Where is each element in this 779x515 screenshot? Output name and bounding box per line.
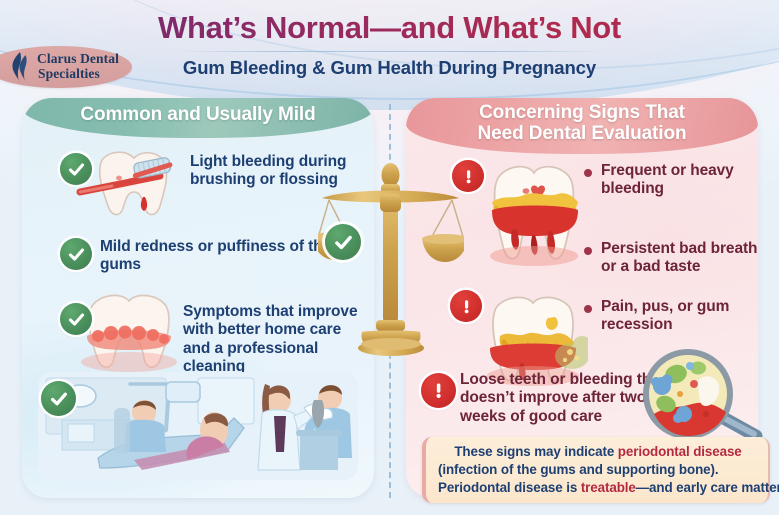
list-item: Mild redness or puffiness of the gums — [60, 238, 360, 275]
list-item-label: Pain, pus, or gum recession — [601, 298, 741, 335]
right-panel-heading: Concerning Signs That Need Dental Evalua… — [406, 98, 758, 154]
callout-line-3: Periodontal disease is treatable—and ear… — [438, 479, 758, 497]
check-badge-icon — [60, 153, 92, 185]
bullet-dot-icon — [584, 305, 592, 313]
callout-line-1a: These signs may indicate — [454, 444, 617, 459]
periodontal-disease-callout: These signs may indicate periodontal dis… — [422, 437, 770, 503]
page-title: What’s Normal—and What’s Not — [0, 10, 779, 46]
balance-scale-icon — [318, 150, 464, 380]
callout-highlight-treatable: treatable — [581, 480, 636, 495]
list-item: Pain, pus, or gum recession — [584, 298, 754, 335]
magnifier-bacteria-illustration — [636, 348, 768, 446]
infographic-canvas: Clarus Dental Specialties What’s Normal—… — [0, 0, 779, 515]
dental-clinic-scene-illustration — [38, 372, 358, 480]
callout-line-3a: Periodontal disease is — [438, 480, 581, 495]
list-item-label: Mild redness or puffiness of the gums — [100, 238, 350, 275]
list-item-label: Persistent bad breath or a bad taste — [601, 240, 758, 277]
list-item: Light bleeding during brushing or flossi… — [60, 153, 360, 190]
bullet-dot-icon — [584, 247, 592, 255]
list-item: Frequent or heavy bleeding — [584, 162, 754, 199]
callout-line-2: (infection of the gums and supporting bo… — [438, 461, 758, 479]
callout-highlight-periodontal: periodontal disease — [618, 444, 742, 459]
list-item: Persistent bad breath or a bad taste — [584, 240, 758, 277]
check-badge-icon — [325, 224, 361, 260]
list-item-label: Frequent or heavy bleeding — [601, 162, 741, 199]
brand-logo[interactable]: Clarus Dental Specialties — [0, 46, 132, 88]
bullet-dot-icon — [584, 169, 592, 177]
check-badge-icon — [60, 303, 92, 335]
brand-logo-text: Clarus Dental Specialties — [37, 52, 119, 81]
callout-line-1: These signs may indicate periodontal dis… — [438, 443, 758, 461]
right-panel-heading-line2: Need Dental Evaluation — [478, 123, 687, 144]
check-badge-icon — [41, 381, 76, 416]
brand-name-line2: Specialties — [38, 67, 119, 82]
callout-line-3c: —and early care matters. — [636, 480, 779, 495]
check-badge-icon — [60, 238, 92, 270]
flame-logo-icon — [6, 50, 34, 84]
brand-name-line1: Clarus Dental — [37, 52, 119, 67]
tooth-heavy-bleeding-illustration — [482, 158, 586, 268]
title-divider-rule — [175, 51, 604, 52]
right-panel-heading-line1: Concerning Signs That — [478, 102, 687, 123]
